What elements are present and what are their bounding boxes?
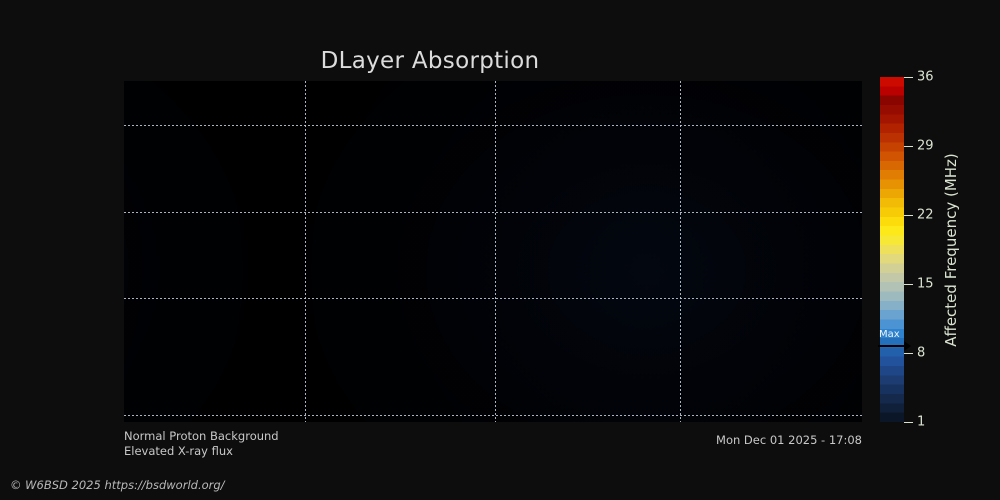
copyright-footer: © W6BSD 2025 https://bsdworld.org/ xyxy=(10,478,225,492)
max-marker-label: Max xyxy=(879,330,900,340)
status-captions: Normal Proton Background Elevated X-ray … xyxy=(124,429,279,459)
colorbar-tick-label: 36 xyxy=(917,70,934,85)
colorbar-tick-mark xyxy=(904,215,913,216)
colorbar-axis-title: Affected Frequency (MHz) xyxy=(938,77,964,422)
colorbar-tick-label: 8 xyxy=(917,346,925,361)
colorbar-tick-mark xyxy=(904,77,913,78)
max-marker-arrow-line xyxy=(878,345,906,347)
caption-proton-background: Normal Proton Background xyxy=(124,429,279,444)
application-root: DLayer Absorption 1815222936 Affected Fr… xyxy=(0,0,1000,500)
colorbar-tick-mark xyxy=(904,146,913,147)
colorbar-tick-label: 29 xyxy=(917,139,934,154)
colorbar-tick-label: 15 xyxy=(917,277,934,292)
page-title: DLayer Absorption xyxy=(0,48,860,74)
max-marker-arrow-head xyxy=(904,341,911,351)
timestamp: Mon Dec 01 2025 - 17:08 xyxy=(600,433,862,447)
max-marker: Max xyxy=(876,331,910,357)
colorbar-tick-mark xyxy=(904,284,913,285)
colorbar-tick-label: 1 xyxy=(917,415,925,430)
colorbar[interactable] xyxy=(880,77,904,422)
colorbar-tick-label: 22 xyxy=(917,208,934,223)
colorbar-tick-mark xyxy=(904,422,913,423)
map-canvas[interactable] xyxy=(124,81,862,422)
colorbar-axis-title-text: Affected Frequency (MHz) xyxy=(942,153,960,347)
world-map[interactable] xyxy=(124,81,862,422)
colorbar-gradient xyxy=(880,77,904,422)
caption-xray-flux: Elevated X-ray flux xyxy=(124,444,279,459)
